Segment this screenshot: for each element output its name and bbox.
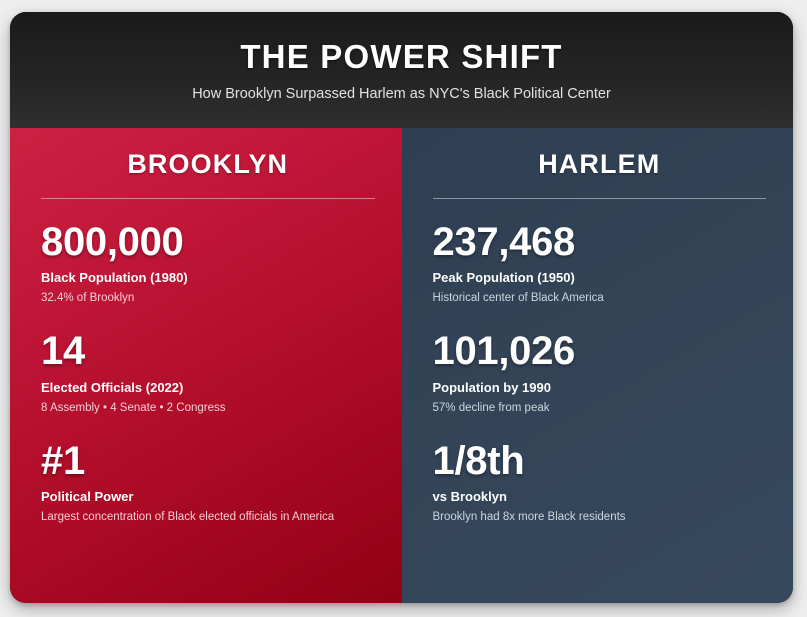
stat-note: 57% decline from peak (433, 401, 767, 416)
stat-value: 101,026 (433, 330, 767, 372)
comparison-panels: BROOKLYN 800,000 Black Population (1980)… (10, 128, 793, 603)
stat-item: 800,000 Black Population (1980) 32.4% of… (41, 221, 375, 307)
stat-item: 237,468 Peak Population (1950) Historica… (433, 221, 767, 307)
stat-item: 101,026 Population by 1990 57% decline f… (433, 330, 767, 416)
stat-item: 1/8th vs Brooklyn Brooklyn had 8x more B… (433, 440, 767, 526)
stat-label: Elected Officials (2022) (41, 380, 375, 396)
stat-label: vs Brooklyn (433, 489, 767, 505)
panel-divider-brooklyn (41, 198, 375, 199)
stat-value: 14 (41, 330, 375, 372)
stat-list-harlem: 237,468 Peak Population (1950) Historica… (433, 221, 767, 526)
stat-value: 800,000 (41, 221, 375, 263)
page-subtitle: How Brooklyn Surpassed Harlem as NYC's B… (192, 86, 611, 103)
stat-label: Peak Population (1950) (433, 270, 767, 286)
panel-heading-harlem: HARLEM (433, 150, 767, 180)
stat-note: Largest concentration of Black elected o… (41, 510, 375, 525)
stat-note: 8 Assembly • 4 Senate • 2 Congress (41, 401, 375, 416)
panel-brooklyn: BROOKLYN 800,000 Black Population (1980)… (10, 128, 402, 603)
stat-note: Brooklyn had 8x more Black residents (433, 510, 767, 525)
page-title: THE POWER SHIFT (240, 40, 562, 75)
stat-value: 237,468 (433, 221, 767, 263)
stat-label: Black Population (1980) (41, 270, 375, 286)
stat-note: Historical center of Black America (433, 291, 767, 306)
stat-value: 1/8th (433, 440, 767, 482)
panel-divider-harlem (433, 198, 767, 199)
panel-heading-brooklyn: BROOKLYN (41, 150, 375, 180)
stat-list-brooklyn: 800,000 Black Population (1980) 32.4% of… (41, 221, 375, 526)
stat-label: Population by 1990 (433, 380, 767, 396)
stat-item: #1 Political Power Largest concentration… (41, 440, 375, 526)
stat-item: 14 Elected Officials (2022) 8 Assembly •… (41, 330, 375, 416)
header-banner: THE POWER SHIFT How Brooklyn Surpassed H… (10, 12, 793, 128)
infographic-card: THE POWER SHIFT How Brooklyn Surpassed H… (10, 12, 793, 603)
stat-label: Political Power (41, 489, 375, 505)
stat-note: 32.4% of Brooklyn (41, 291, 375, 306)
stat-value: #1 (41, 440, 375, 482)
panel-harlem: HARLEM 237,468 Peak Population (1950) Hi… (402, 128, 794, 603)
